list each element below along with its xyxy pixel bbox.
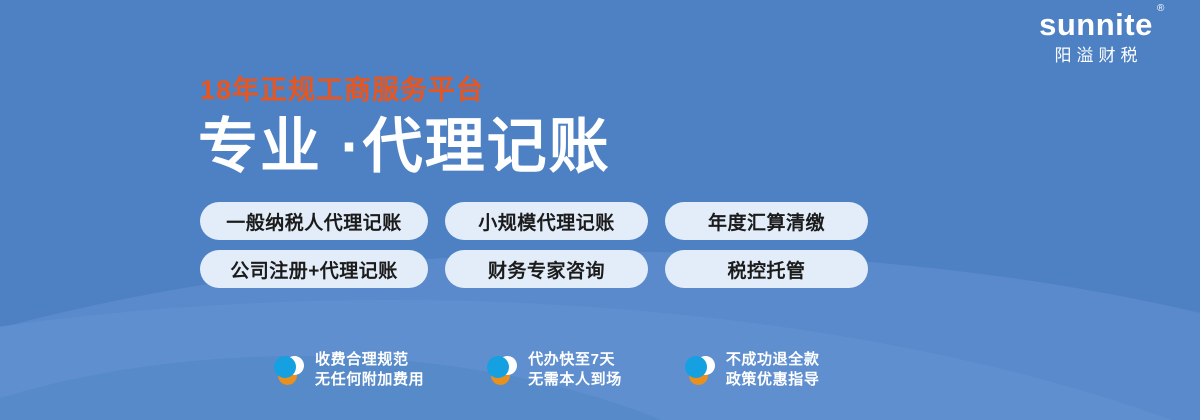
feature-line-2: 无任何附加费用 xyxy=(315,370,424,390)
cyan-dot-shape xyxy=(274,356,296,378)
service-pill-annual-tax-settlement[interactable]: 年度汇算清缴 xyxy=(665,202,868,240)
service-pill-financial-expert-consulting[interactable]: 财务专家咨询 xyxy=(445,250,648,288)
service-pill-row-2: 公司注册+代理记账 财务专家咨询 税控托管 xyxy=(200,250,868,288)
promo-banner: sunnite ® 阳溢财税 18年正规工商服务平台 专业 ·代理记账 一般纳税… xyxy=(0,0,1200,420)
feature-line-1: 不成功退全款 xyxy=(726,350,820,370)
feature-line-2: 无需本人到场 xyxy=(528,370,622,390)
feature-item-guarantee: 不成功退全款 政策优惠指导 xyxy=(684,350,820,390)
service-pill-grid: 一般纳税人代理记账 小规模代理记账 年度汇算清缴 公司注册+代理记账 财务专家咨… xyxy=(200,202,868,298)
two-tone-dots-icon xyxy=(684,353,716,387)
feature-line-1: 代办快至7天 xyxy=(528,350,622,370)
feature-line-2: 政策优惠指导 xyxy=(726,370,820,390)
registered-trademark-icon: ® xyxy=(1157,4,1165,14)
feature-text-pricing: 收费合理规范 无任何附加费用 xyxy=(315,350,424,390)
two-tone-dots-icon xyxy=(486,353,518,387)
feature-line-1: 收费合理规范 xyxy=(315,350,424,370)
logo-chinese-name: 阳溢财税 xyxy=(1006,46,1186,66)
service-pill-general-taxpayer-bookkeeping[interactable]: 一般纳税人代理记账 xyxy=(200,202,428,240)
service-pill-row-1: 一般纳税人代理记账 小规模代理记账 年度汇算清缴 xyxy=(200,202,868,240)
hero-tagline: 18年正规工商服务平台 xyxy=(200,75,484,105)
service-pill-small-scale-bookkeeping[interactable]: 小规模代理记账 xyxy=(445,202,648,240)
logo-wordmark-text: sunnite xyxy=(1039,7,1153,42)
two-tone-dots-icon xyxy=(273,353,305,387)
feature-item-speed: 代办快至7天 无需本人到场 xyxy=(486,350,622,390)
feature-list: 收费合理规范 无任何附加费用 代办快至7天 无需本人到场 不成功退全款 xyxy=(273,350,819,390)
brand-logo[interactable]: sunnite ® 阳溢财税 xyxy=(1006,8,1186,66)
feature-text-guarantee: 不成功退全款 政策优惠指导 xyxy=(726,350,820,390)
feature-item-pricing: 收费合理规范 无任何附加费用 xyxy=(273,350,424,390)
service-pill-company-registration-bookkeeping[interactable]: 公司注册+代理记账 xyxy=(200,250,428,288)
feature-text-speed: 代办快至7天 无需本人到场 xyxy=(528,350,622,390)
cyan-dot-shape xyxy=(685,356,707,378)
logo-wordmark: sunnite ® xyxy=(1039,8,1153,42)
hero-headline: 专业 ·代理记账 xyxy=(198,112,611,182)
service-pill-tax-control-custody[interactable]: 税控托管 xyxy=(665,250,868,288)
